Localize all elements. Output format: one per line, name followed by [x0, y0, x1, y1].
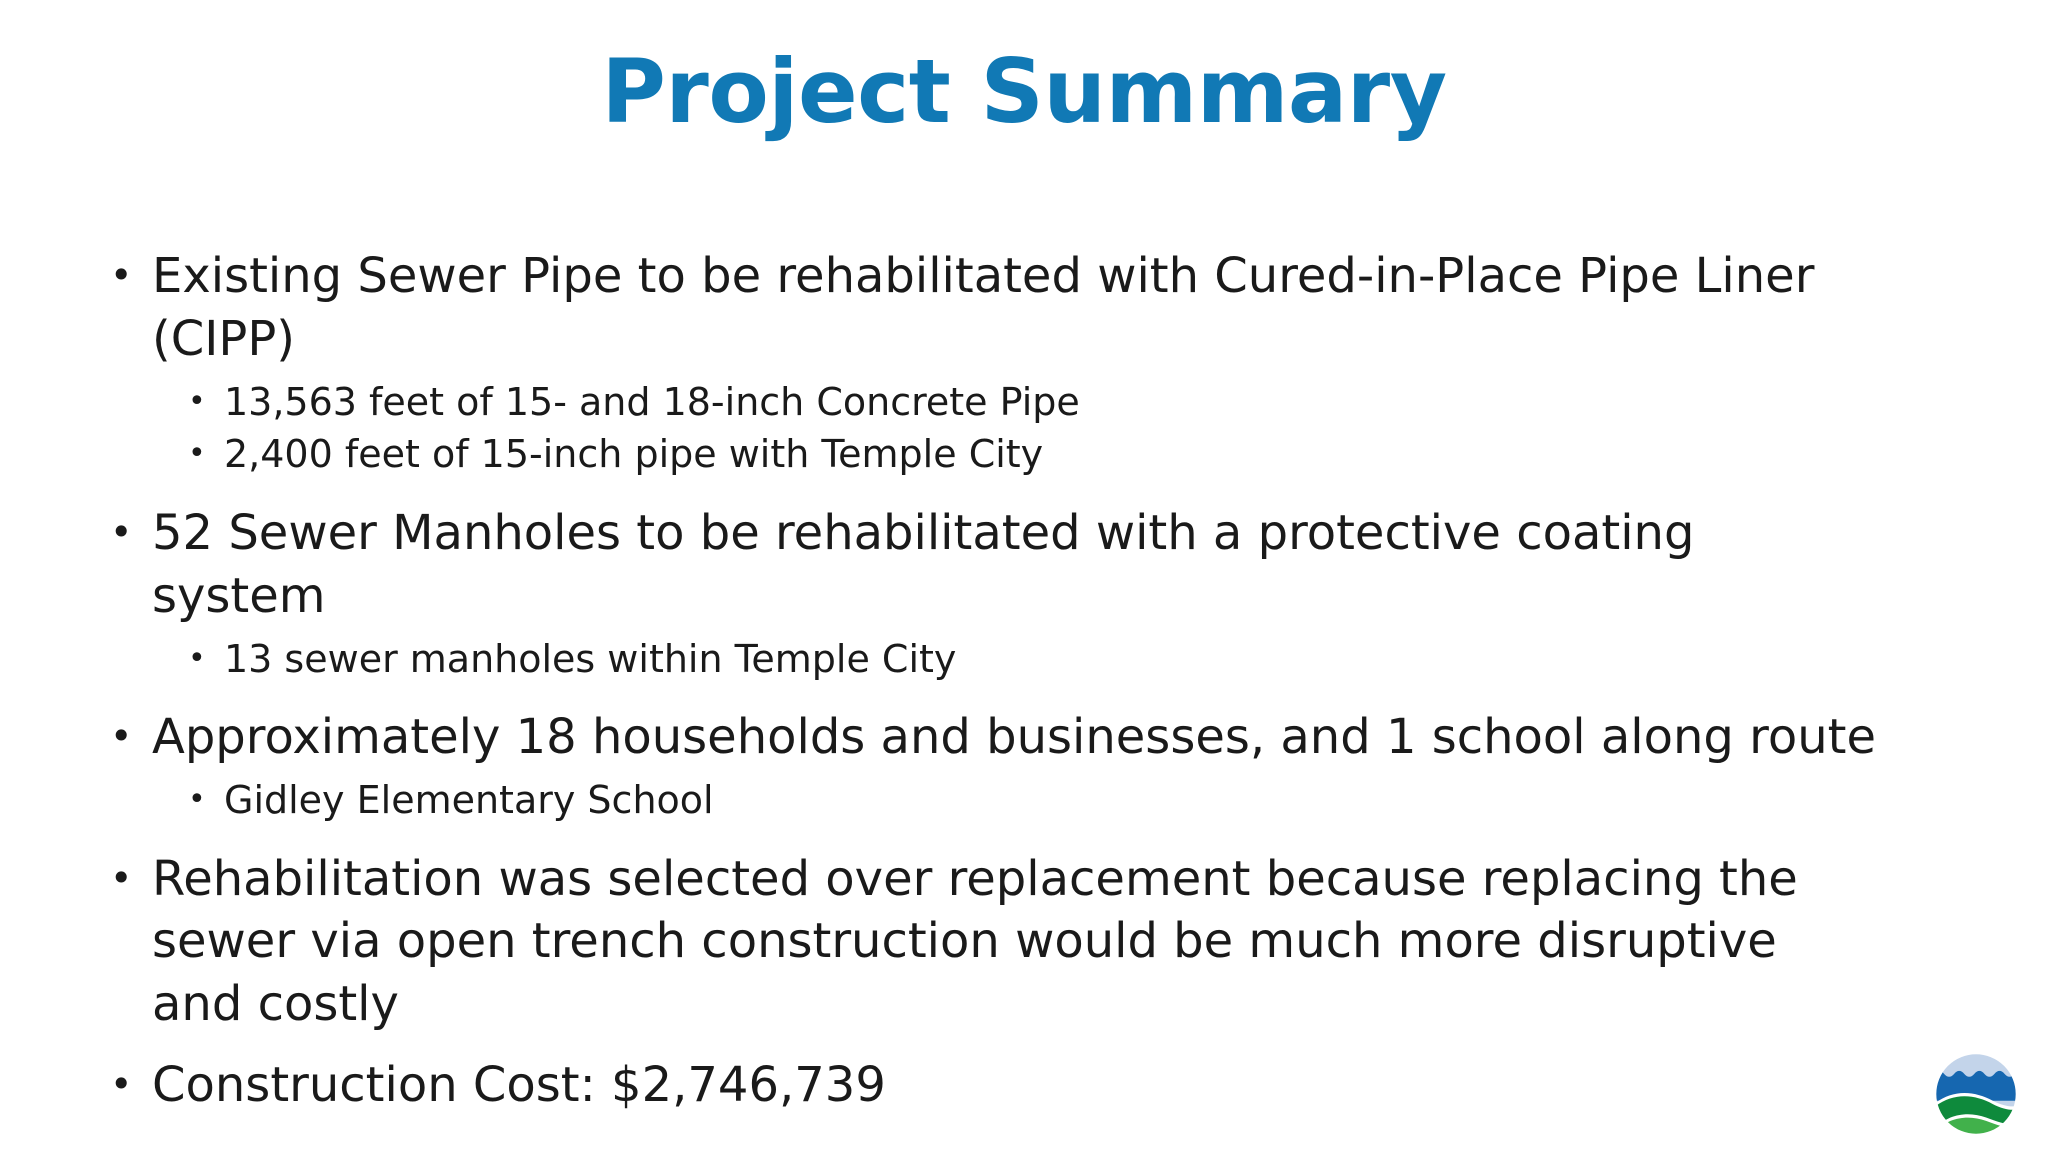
bullet-text: 13,563 feet of 15- and 18-inch Concrete …	[224, 377, 1970, 428]
bullet-marker-icon: •	[110, 1054, 152, 1116]
water-and-land-circle-logo-icon	[1934, 1052, 2018, 1136]
bullet-item-level2: • Gidley Elementary School	[188, 775, 1970, 826]
spacer	[110, 1042, 1970, 1054]
bullet-text: Rehabilitation was selected over replace…	[152, 848, 1882, 1037]
bullet-text: 13 sewer manholes within Temple City	[224, 634, 1970, 685]
bullet-list: • Existing Sewer Pipe to be rehabilitate…	[110, 245, 1970, 1123]
bullet-item-level1: • Approximately 18 households and busine…	[110, 706, 1970, 769]
bullet-item-level2: • 2,400 feet of 15-inch pipe with Temple…	[188, 429, 1970, 480]
bullet-marker-icon: •	[188, 429, 224, 478]
bullet-item-level1: • Construction Cost: $2,746,739	[110, 1054, 1970, 1117]
bullet-item-level1: • Existing Sewer Pipe to be rehabilitate…	[110, 245, 1970, 371]
bullet-text: Existing Sewer Pipe to be rehabilitated …	[152, 245, 1882, 371]
bullet-marker-icon: •	[188, 634, 224, 683]
bullet-text: 2,400 feet of 15-inch pipe with Temple C…	[224, 429, 1970, 480]
bullet-item-level2: • 13 sewer manholes within Temple City	[188, 634, 1970, 685]
spacer	[110, 828, 1970, 848]
bullet-item-level1: • Rehabilitation was selected over repla…	[110, 848, 1970, 1037]
spacer	[110, 482, 1970, 502]
bullet-marker-icon: •	[110, 245, 152, 307]
bullet-text: Gidley Elementary School	[224, 775, 1970, 826]
spacer	[110, 686, 1970, 706]
bullet-text: Approximately 18 households and business…	[152, 706, 1882, 769]
presentation-slide: Project Summary • Existing Sewer Pipe to…	[0, 0, 2048, 1153]
bullet-marker-icon: •	[188, 775, 224, 824]
bullet-marker-icon: •	[110, 848, 152, 910]
bullet-text: 52 Sewer Manholes to be rehabilitated wi…	[152, 502, 1882, 628]
bullet-item-level1: • 52 Sewer Manholes to be rehabilitated …	[110, 502, 1970, 628]
bullet-marker-icon: •	[110, 706, 152, 768]
bullet-item-level2: • 13,563 feet of 15- and 18-inch Concret…	[188, 377, 1970, 428]
bullet-text: Construction Cost: $2,746,739	[152, 1054, 1882, 1117]
bullet-marker-icon: •	[188, 377, 224, 426]
bullet-marker-icon: •	[110, 502, 152, 564]
page-title: Project Summary	[0, 44, 2048, 141]
